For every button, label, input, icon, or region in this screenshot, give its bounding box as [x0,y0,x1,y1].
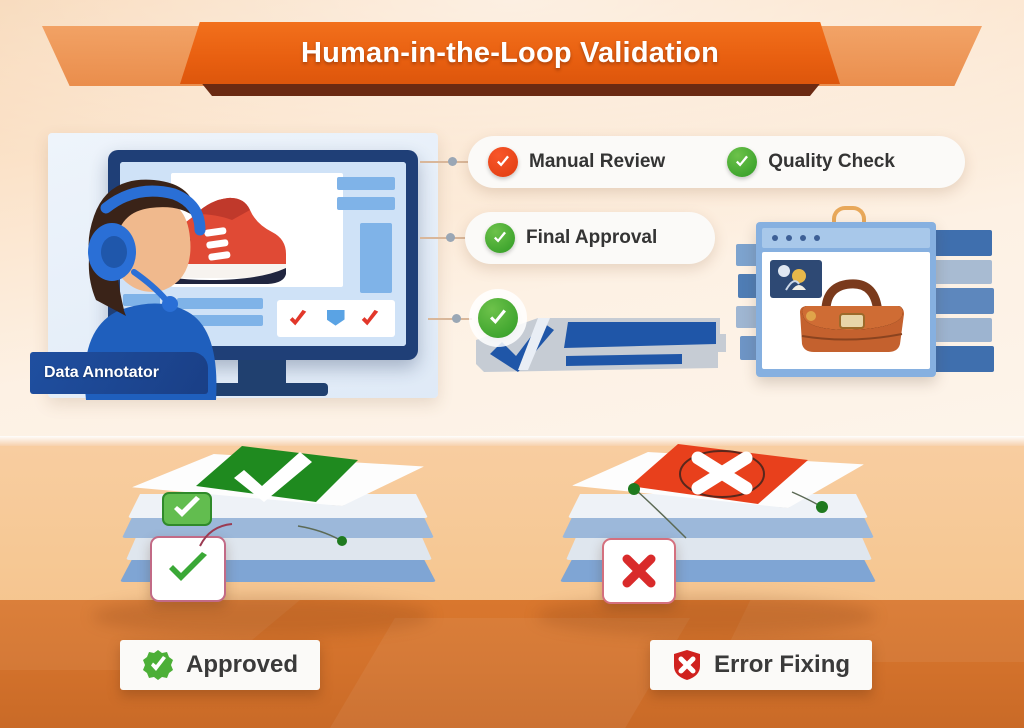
connector-thread [180,520,360,560]
workflow-chip-row-middle: Final Approval [465,212,715,264]
window-titlebar [762,228,930,248]
screen-field [337,177,394,190]
connector-dot-top [448,157,457,166]
handbag-product-image [792,272,910,358]
check-circle-icon [727,147,757,177]
connector-line-lower [428,318,472,320]
status-label-text: Approved [186,651,298,679]
red-check-icon [359,308,381,330]
check-circle-icon [478,298,518,338]
verified-badge-icon [142,649,174,681]
chip-label: Quality Check [768,151,895,173]
annotator-label-badge: Data Annotator [30,352,208,394]
status-label-text: Error Fixing [714,651,850,679]
chip-label: Manual Review [529,151,665,173]
connector-line-top [420,161,472,163]
window-dot [772,235,778,241]
connector-thread [614,476,844,556]
screen-sidebar [360,223,391,293]
chip-label: Final Approval [526,227,657,249]
shield-cross-icon [672,649,702,681]
check-mark-sheet [196,446,358,508]
connector-dot-lower [452,314,461,323]
chip-manual-review[interactable]: Manual Review [468,147,665,177]
connector-line-mid [420,237,470,239]
screen-toolbar [277,300,394,337]
window-dot [814,235,820,241]
red-check-icon [287,308,309,330]
window-dot [800,235,806,241]
screen-field [337,197,394,210]
chip-final-approval[interactable]: Final Approval [465,223,657,253]
approved-stack [118,440,448,640]
title-banner: Human-in-the-Loop Validation [180,22,840,84]
status-label-error: Error Fixing [650,640,872,690]
chip-quality-check[interactable]: Quality Check [665,147,895,177]
connector-dot-mid [446,233,455,242]
error-stack [558,440,888,640]
check-circle-icon [485,223,515,253]
window-dot [786,235,792,241]
workflow-chip-row-top: Manual Review Quality Check [468,136,965,188]
page-title: Human-in-the-Loop Validation [301,37,719,70]
cross-mark-icon [619,551,659,591]
status-label-approved: Approved [120,640,320,690]
check-circle-icon [488,147,518,177]
infographic-canvas: Human-in-the-Loop Validation [0,0,1024,728]
blue-tag-icon [327,310,345,326]
annotator-label-text: Data Annotator [44,364,159,382]
